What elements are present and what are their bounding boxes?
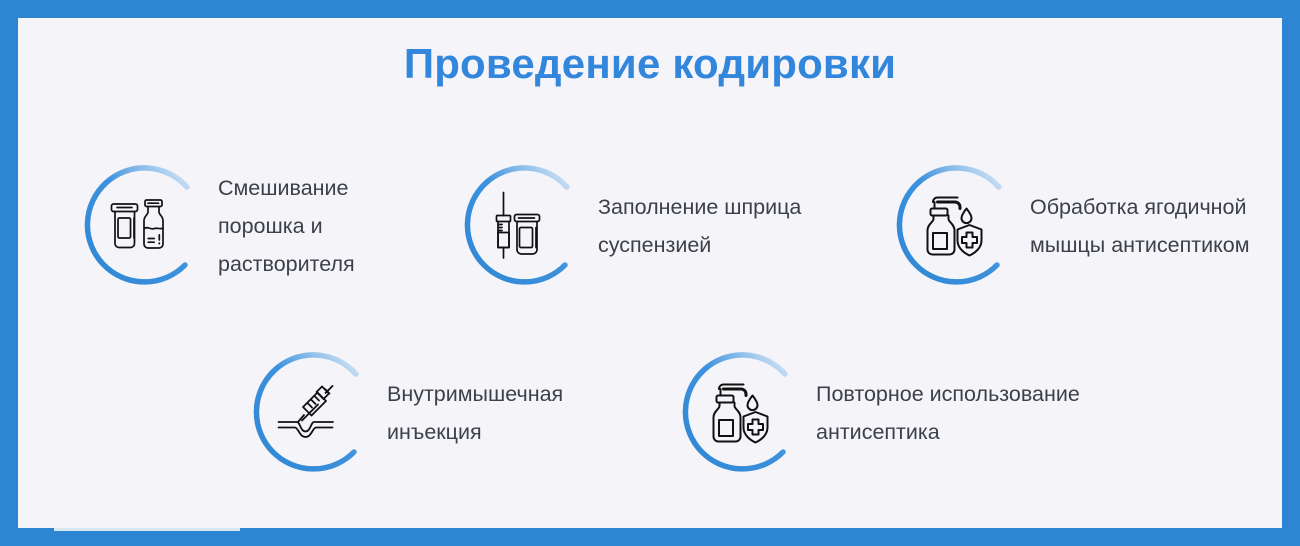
antiseptic-dispenser-shield-icon xyxy=(916,188,992,264)
step-badge-5 xyxy=(673,346,807,480)
step-badge-3 xyxy=(887,159,1021,293)
infographic-canvas: Проведение кодировки xyxy=(18,18,1282,528)
two-vials-icon xyxy=(104,188,180,264)
step-label-3: Обработка ягодичной мышцы антисептиком xyxy=(1030,188,1250,264)
syringe-and-vial-icon xyxy=(484,188,560,264)
step-badge-1 xyxy=(75,159,209,293)
step-label-5: Повторное использование антисептика xyxy=(816,375,1080,451)
page-title: Проведение кодировки xyxy=(18,40,1282,88)
step-badge-4 xyxy=(244,346,378,480)
antiseptic-dispenser-shield-icon xyxy=(702,375,778,451)
step-item-2: Заполнение шприца суспензией xyxy=(455,159,801,293)
step-label-1: Смешивание порошка и растворителя xyxy=(218,169,355,283)
infographic-frame: Проведение кодировки xyxy=(0,0,1300,546)
step-badge-2 xyxy=(455,159,589,293)
step-item-5: Повторное использование антисептика xyxy=(673,346,1080,480)
step-label-2: Заполнение шприца суспензией xyxy=(598,188,801,264)
step-item-1: Смешивание порошка и растворителя xyxy=(75,159,355,293)
step-item-3: Обработка ягодичной мышцы антисептиком xyxy=(887,159,1250,293)
intramuscular-injection-icon xyxy=(273,375,349,451)
step-item-4: Внутримышечная инъекция xyxy=(244,346,563,480)
step-label-4: Внутримышечная инъекция xyxy=(387,375,563,451)
